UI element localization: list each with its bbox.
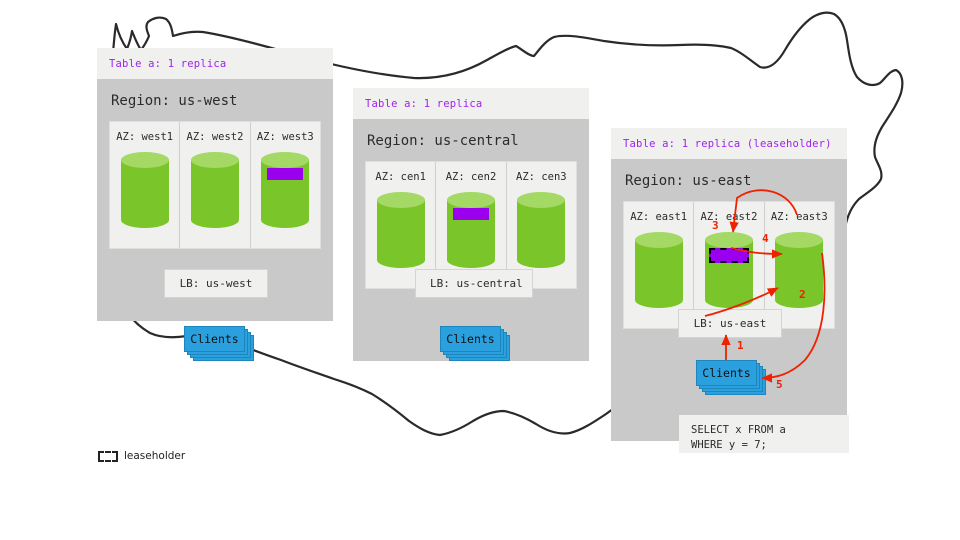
cylinder-west1	[121, 152, 169, 228]
cylinder-cen1	[377, 192, 425, 268]
az-label-cen1: AZ: cen1	[370, 171, 431, 183]
clients-us-east[interactable]: Clients	[696, 360, 757, 386]
az-label-west3: AZ: west3	[255, 131, 316, 143]
cylinder-west2	[191, 152, 239, 228]
replica-block-west3	[267, 168, 303, 180]
arrow-label-2: 2	[799, 288, 806, 301]
region-title-us-central: Region: us-central	[365, 119, 577, 161]
replica-block-cen2	[453, 208, 489, 220]
region-panel-us-central: Table a: 1 replica Region: us-central AZ…	[353, 88, 589, 361]
arrow-label-5: 5	[776, 378, 783, 391]
arrow-label-3: 3	[712, 219, 719, 232]
lb-box-us-central[interactable]: LB: us-central	[415, 269, 533, 298]
az-label-east2: AZ: east2	[698, 211, 759, 223]
legend-label-leaseholder: leaseholder	[124, 450, 185, 462]
diagram-canvas: 1 2 3 4 5 Table a: 1 replica Region: us-…	[0, 0, 960, 540]
lb-box-us-west[interactable]: LB: us-west	[164, 269, 268, 298]
region-panel-us-east: Table a: 1 replica (leaseholder) Region:…	[611, 128, 847, 441]
arrow-label-1: 1	[737, 339, 744, 352]
replica-block-east2-leaseholder	[709, 248, 749, 263]
panel-body-us-central: Region: us-central AZ: cen1 AZ: cen2	[353, 119, 589, 361]
az-cell-west2[interactable]: AZ: west2	[180, 122, 250, 248]
az-label-west1: AZ: west1	[114, 131, 175, 143]
az-label-east3: AZ: east3	[769, 211, 830, 223]
az-label-cen2: AZ: cen2	[440, 171, 501, 183]
lb-box-us-east[interactable]: LB: us-east	[678, 309, 782, 338]
arrow-label-4: 4	[762, 232, 769, 245]
az-cell-west1[interactable]: AZ: west1	[110, 122, 180, 248]
az-row-us-west: AZ: west1 AZ: west2 AZ: west3	[109, 121, 321, 249]
panel-header-us-central: Table a: 1 replica	[353, 88, 589, 119]
clients-label-us-east[interactable]: Clients	[696, 360, 757, 386]
legend: leaseholder	[98, 450, 185, 462]
clients-us-central[interactable]: Clients	[440, 326, 501, 352]
cylinder-west3	[261, 152, 309, 228]
leaseholder-swatch-icon	[98, 451, 118, 462]
panel-header-us-west: Table a: 1 replica	[97, 48, 333, 79]
clients-us-west[interactable]: Clients	[184, 326, 245, 352]
cylinder-cen2	[447, 192, 495, 268]
panel-body-us-east: Region: us-east AZ: east1 AZ: east2	[611, 159, 847, 441]
cylinder-east2	[705, 232, 753, 308]
panel-header-us-east: Table a: 1 replica (leaseholder)	[611, 128, 847, 159]
cylinder-east1	[635, 232, 683, 308]
sql-query-box: SELECT x FROM a WHERE y = 7;	[679, 415, 849, 453]
region-title-us-west: Region: us-west	[109, 79, 321, 121]
region-title-us-east: Region: us-east	[623, 159, 835, 201]
cylinder-cen3	[517, 192, 565, 268]
region-panel-us-west: Table a: 1 replica Region: us-west AZ: w…	[97, 48, 333, 321]
clients-label-us-west[interactable]: Clients	[184, 326, 245, 352]
az-label-east1: AZ: east1	[628, 211, 689, 223]
az-label-cen3: AZ: cen3	[511, 171, 572, 183]
az-cell-west3[interactable]: AZ: west3	[251, 122, 320, 248]
clients-label-us-central[interactable]: Clients	[440, 326, 501, 352]
az-label-west2: AZ: west2	[184, 131, 245, 143]
